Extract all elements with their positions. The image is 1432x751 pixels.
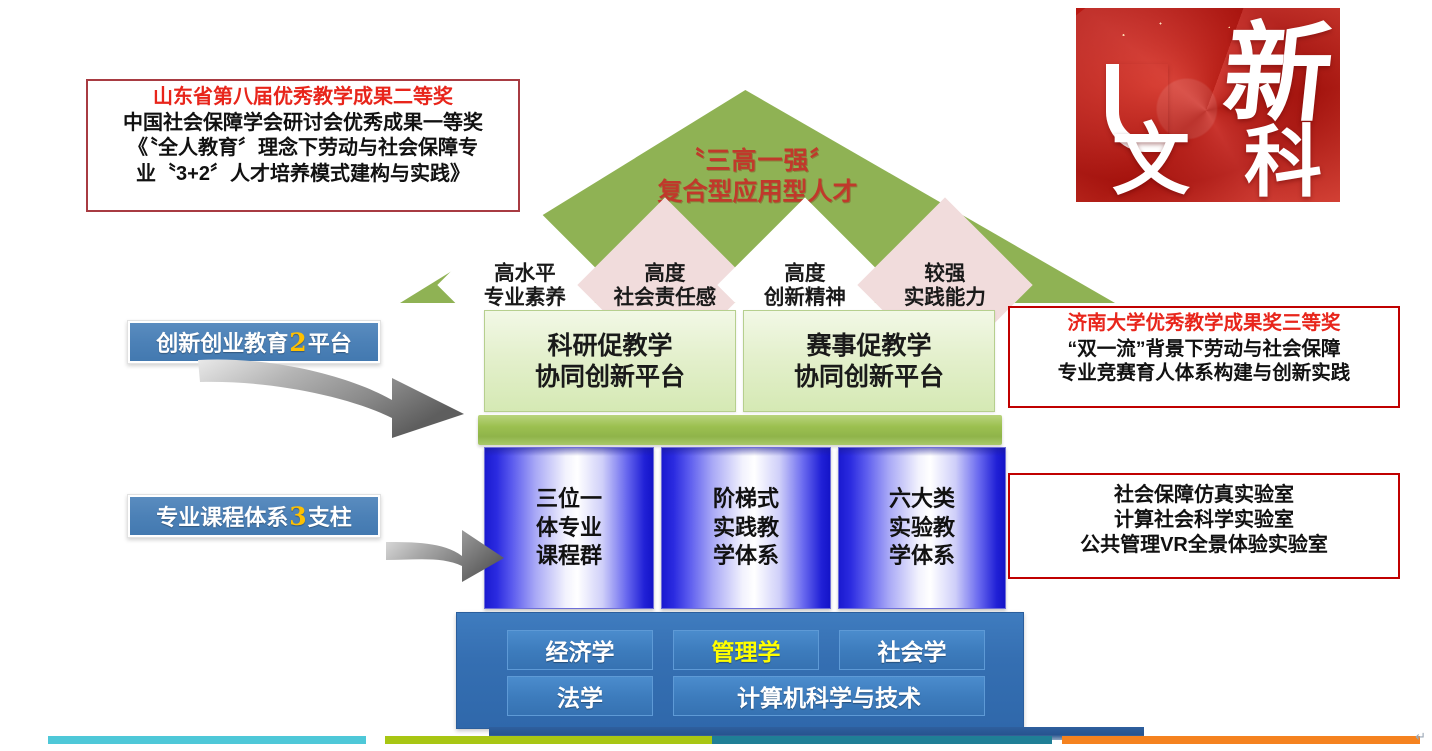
- diamond-line1: 较强: [885, 261, 1005, 285]
- diamond-line1: 高度: [745, 261, 865, 285]
- side-label-number: 3: [288, 502, 307, 531]
- callout-line: 《〝全人教育〞理念下劳动与社会保障专: [94, 136, 512, 161]
- pillar-line2: 实验教: [889, 514, 955, 543]
- side-label-inner: 专业课程体系 3 支柱: [130, 497, 378, 535]
- discipline-chip-economics: 经济学: [507, 630, 653, 670]
- arrow-shape: [386, 530, 504, 582]
- callout-right-lower: 社会保障仿真实验室 计算社会科学实验室 公共管理VR全景体验实验室: [1008, 473, 1400, 579]
- callout-line: “双一流”背景下劳动与社会保障: [1016, 337, 1392, 362]
- diamond-line2: 实践能力: [885, 285, 1005, 309]
- pillar-label: 六大类 实验教 学体系: [889, 485, 955, 571]
- side-label-prefix: 专业课程体系: [156, 500, 288, 532]
- platform-competition-teaching: 赛事促教学 协同创新平台: [743, 310, 995, 412]
- pillar-cap: [662, 448, 830, 456]
- pillar-stepped-practice-system: 阶梯式 实践教 学体系: [661, 447, 831, 609]
- bottom-strip-segment-teal: [712, 736, 1052, 744]
- pillar-line2: 实践教: [713, 514, 779, 543]
- discipline-chip-sociology: 社会学: [839, 630, 985, 670]
- pillar-line1: 三位一: [536, 485, 602, 514]
- pilcrow-mark: ↵: [1415, 729, 1426, 745]
- pillar-cap: [485, 448, 653, 456]
- pillar-label: 阶梯式 实践教 学体系: [713, 485, 779, 571]
- chip-label: 社会学: [878, 633, 947, 667]
- pillar-line3: 学体系: [713, 542, 779, 571]
- callout-headline: 山东省第八届优秀教学成果二等奖: [94, 85, 512, 110]
- callout-line: 公共管理VR全景体验实验室: [1016, 533, 1392, 558]
- callout-headline: 济南大学优秀教学成果奖三等奖: [1016, 311, 1392, 336]
- callout-top-left: 山东省第八届优秀教学成果二等奖 中国社会保障学会研讨会优秀成果一等奖 《〝全人教…: [86, 79, 520, 212]
- xinwenke-logo: 新 文 科: [1076, 8, 1340, 202]
- callout-line: 中国社会保障学会研讨会优秀成果一等奖: [94, 111, 512, 136]
- platform-research-teaching: 科研促教学 协同创新平台: [484, 310, 736, 412]
- pillar-line3: 学体系: [889, 542, 955, 571]
- bottom-strip-segment-cyan: [48, 736, 366, 744]
- platform-line1: 赛事促教学: [794, 330, 944, 362]
- chip-label: 管理学: [712, 633, 781, 667]
- diagram-canvas: 新 文 科 〝三高一强〞 复合型应用型人才 高水平 专业素养 高度 社会责任感 …: [0, 0, 1432, 751]
- callout-line: 社会保障仿真实验室: [1016, 483, 1392, 508]
- platform-line2: 协同创新平台: [535, 361, 685, 393]
- diamond-line2: 专业素养: [465, 285, 585, 309]
- diamond-label: 高度 创新精神: [745, 261, 865, 309]
- diamond-line1: 高水平: [465, 261, 585, 285]
- curved-arrow-to-pillars: [386, 508, 506, 582]
- platform-line1: 科研促教学: [535, 330, 685, 362]
- discipline-chip-management: 管理学: [673, 630, 819, 670]
- discipline-chip-law: 法学: [507, 676, 653, 716]
- pillar-line1: 阶梯式: [713, 485, 779, 514]
- pillar-label: 三位一 体专业 课程群: [536, 485, 602, 571]
- pillar-cap: [839, 448, 1005, 456]
- foundation-base: 经济学 管理学 社会学 法学 计算机科学与技术: [456, 612, 1024, 729]
- platform-line2: 协同创新平台: [794, 361, 944, 393]
- platform-label: 赛事促教学 协同创新平台: [794, 330, 944, 393]
- logo-char-wen: 文: [1112, 122, 1190, 200]
- curved-arrow-to-platforms: [196, 352, 496, 438]
- diamond-label: 高度 社会责任感: [605, 261, 725, 309]
- callout-line: 计算社会科学实验室: [1016, 508, 1392, 533]
- diamond-label: 较强 实践能力: [885, 261, 1005, 309]
- green-support-beam: [478, 415, 1002, 445]
- diamond-line2: 社会责任感: [605, 285, 725, 309]
- pillar-line1: 六大类: [889, 485, 955, 514]
- chip-label: 经济学: [546, 633, 615, 667]
- callout-line: 专业竞赛育人体系构建与创新实践: [1016, 361, 1392, 386]
- side-label-suffix: 支柱: [308, 500, 352, 532]
- side-label-three-pillars: 专业课程体系 3 支柱: [127, 494, 381, 538]
- chip-label: 计算机科学与技术: [737, 679, 921, 713]
- chip-label: 法学: [557, 679, 603, 713]
- pillar-line3: 课程群: [536, 542, 602, 571]
- logo-char-ke: 科: [1244, 124, 1322, 202]
- diamond-line1: 高度: [605, 261, 725, 285]
- discipline-chip-computer-science: 计算机科学与技术: [673, 676, 985, 716]
- pillar-trinity-course-group: 三位一 体专业 课程群: [484, 447, 654, 609]
- diamond-line2: 创新精神: [745, 285, 865, 309]
- diamond-label: 高水平 专业素养: [465, 261, 585, 309]
- platform-label: 科研促教学 协同创新平台: [535, 330, 685, 393]
- bottom-strip-segment-orange: [1062, 736, 1420, 744]
- callout-line: 业〝3+2〞人才培养模式建构与实践》: [94, 162, 512, 187]
- logo-char-xin: 新: [1218, 20, 1337, 128]
- pillar-six-category-lab-system: 六大类 实验教 学体系: [838, 447, 1006, 609]
- pillar-line2: 体专业: [536, 514, 602, 543]
- arrow-shape: [198, 359, 464, 438]
- callout-right-upper: 济南大学优秀教学成果奖三等奖 “双一流”背景下劳动与社会保障 专业竞赛育人体系构…: [1008, 306, 1400, 408]
